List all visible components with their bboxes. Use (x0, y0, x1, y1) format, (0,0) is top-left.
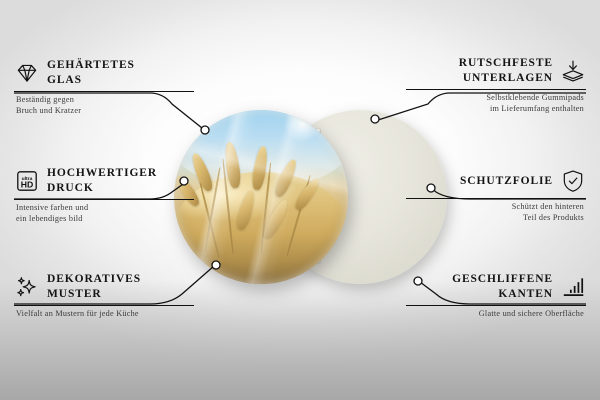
divider (406, 89, 586, 90)
feature-title: HOCHWERTIGER DRUCK (47, 166, 157, 195)
feature-subtitle: Schützt den hinteren Teil des Produkts (406, 202, 586, 223)
feature-header: SCHUTZFOLIE (406, 168, 586, 194)
diamond-icon (14, 60, 40, 86)
feature-tempered-glass: GEHÄRTETES GLAS Beständig gegen Bruch un… (14, 58, 194, 116)
feature-hd-print: ultra HD HOCHWERTIGER DRUCK Intensive fa… (14, 166, 194, 224)
feature-title: GEHÄRTETES GLAS (47, 58, 135, 87)
feature-header: GEHÄRTETES GLAS (14, 58, 194, 87)
polished-edges-icon (560, 274, 586, 300)
divider (406, 198, 586, 199)
feature-subtitle: Selbstklebende Gummipads im Lieferumfang… (406, 93, 586, 114)
anti-slip-pad-icon (560, 58, 586, 84)
feature-header: DEKORATIVES MUSTER (14, 272, 194, 301)
divider (406, 305, 586, 306)
svg-text:HD: HD (21, 179, 34, 189)
sparkle-icon (14, 274, 40, 300)
feature-header: RUTSCHFESTE UNTERLAGEN (406, 56, 586, 85)
divider (14, 91, 194, 92)
feature-decorative-pattern: DEKORATIVES MUSTER Vielfalt an Mustern f… (14, 272, 194, 320)
glass-rim (174, 110, 348, 284)
feature-subtitle: Vielfalt an Mustern für jede Küche (14, 309, 194, 320)
feature-protective-film: SCHUTZFOLIE Schützt den hinteren Teil de… (406, 168, 586, 223)
product-front-disc (174, 110, 348, 284)
feature-header: ultra HD HOCHWERTIGER DRUCK (14, 166, 194, 195)
feature-title: GESCHLIFFENE KANTEN (452, 272, 553, 301)
feature-anti-slip-pads: RUTSCHFESTE UNTERLAGEN Selbstklebende Gu… (406, 56, 586, 114)
feature-subtitle: Glatte und sichere Oberfläche (406, 309, 586, 320)
feature-title: RUTSCHFESTE UNTERLAGEN (459, 56, 553, 85)
feature-title: SCHUTZFOLIE (460, 174, 553, 189)
feature-subtitle: Intensive farben und ein lebendiges bild (14, 203, 194, 224)
glass-reflection (174, 110, 348, 284)
feature-subtitle: Beständig gegen Bruch und Kratzer (14, 95, 194, 116)
divider (14, 199, 194, 200)
feature-header: GESCHLIFFENE KANTEN (406, 272, 586, 301)
divider (14, 305, 194, 306)
feature-title: DEKORATIVES MUSTER (47, 272, 141, 301)
shield-check-icon (560, 168, 586, 194)
ultra-hd-icon: ultra HD (14, 168, 40, 194)
product-infographic: GEHÄRTETES GLAS Beständig gegen Bruch un… (0, 0, 600, 400)
feature-polished-edges: GESCHLIFFENE KANTEN Glatte und sichere O… (406, 272, 586, 320)
